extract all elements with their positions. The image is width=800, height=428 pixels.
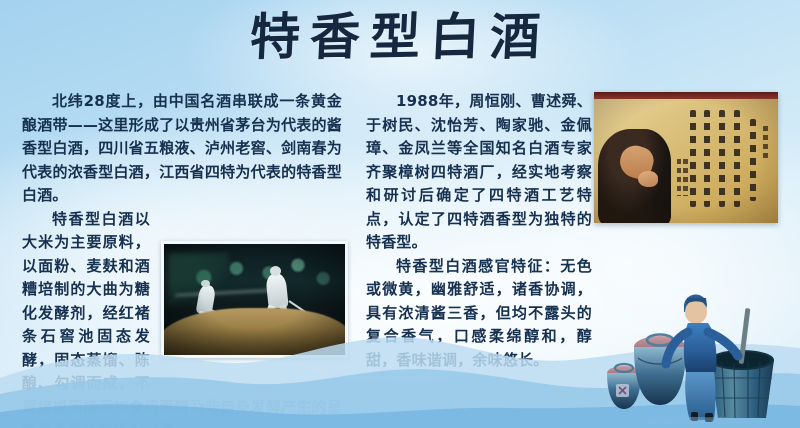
wooden-vat [710,308,774,418]
left-paragraph-1: 北纬28度上，由中国名酒串联成一条黄金酿酒带——这里形成了以贵州省茅台为代表的酱… [22,90,342,208]
skirt [685,372,715,420]
portrait-frame-top [594,92,778,99]
face [685,300,707,324]
portrait-vignette [594,99,778,223]
title-char-4: 白 [429,7,492,66]
calligraphy-scroll [594,99,778,223]
title-char-2: 香 [309,7,372,66]
right-paragraph-1: 1988年，周恒刚、曹述舜、于树民、沈怡芳、陶家驰、金佩璋、金凤兰等全国知名白酒… [366,90,592,255]
title-char-3: 型 [369,7,432,66]
ground-shadow [632,417,748,424]
poster-canvas: 特香型白酒 北纬28度上，由中国名酒串联成一条黄金酿酒带——这里形成了以贵州省茅… [0,0,800,428]
page-title: 特香型白酒 [0,8,800,66]
portrait-photo [594,92,778,223]
brewing-illustration [598,272,794,424]
title-char-1: 特 [249,7,312,66]
title-char-5: 酒 [489,7,552,66]
